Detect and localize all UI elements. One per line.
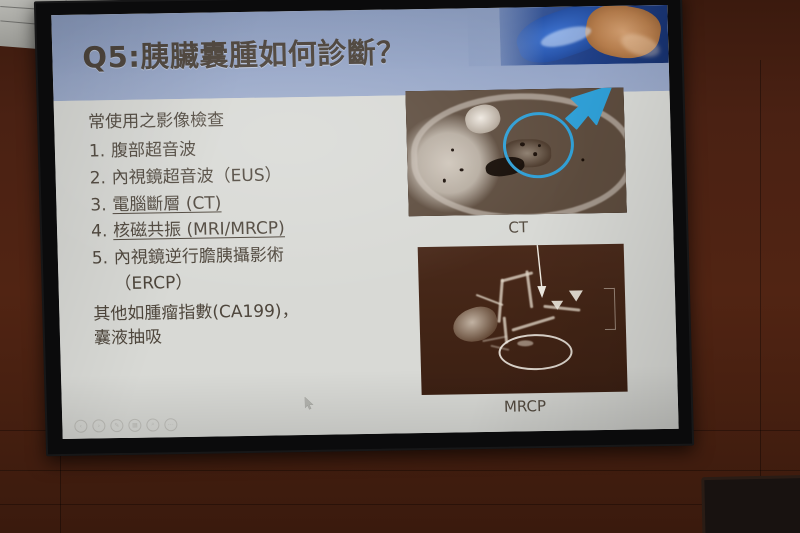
list-item-continuation: （ERCP） bbox=[114, 268, 393, 297]
imaging-modality-list: 1. 腹部超音波 2. 內視鏡超音波（EUS） 3. 電腦斷層 (CT) 4 bbox=[89, 135, 393, 271]
list-number: 5. bbox=[92, 246, 115, 271]
zoom-icon[interactable]: ⌕ bbox=[146, 418, 159, 431]
ct-image bbox=[405, 88, 626, 217]
list-item: 5. 內視鏡逆行膽胰攝影術 bbox=[92, 241, 393, 271]
mrcp-arrowhead bbox=[569, 290, 583, 301]
mrcp-arrowhead bbox=[551, 301, 563, 310]
list-item: 2. 內視鏡超音波（EUS） bbox=[89, 161, 390, 191]
presentation-slide: Q5:胰臟囊腫如何診斷？ 常使用之影像檢查 1. 腹部超音波 2. 內視鏡超音波… bbox=[51, 5, 678, 439]
list-number: 4. bbox=[91, 219, 114, 244]
mrcp-white-arrow-annotation bbox=[532, 244, 550, 307]
list-text: 核磁共振 (MRI/MRCP) bbox=[113, 215, 392, 244]
ct-blue-arrow-annotation bbox=[549, 88, 617, 145]
list-text: 電腦斷層 (CT) bbox=[112, 188, 391, 217]
tail-text-line-2: 囊液抽吸 bbox=[94, 322, 395, 351]
wall-seam bbox=[0, 470, 800, 471]
wall-seam bbox=[0, 504, 800, 505]
figure-mrcp: MRCP bbox=[418, 244, 628, 395]
list-number: 2. bbox=[89, 166, 112, 191]
list-item: 1. 腹部超音波 bbox=[89, 135, 390, 165]
slide-body: 常使用之影像檢查 1. 腹部超音波 2. 內視鏡超音波（EUS） 3. 電腦斷 bbox=[54, 91, 679, 439]
bullet-block: 常使用之影像檢查 1. 腹部超音波 2. 內視鏡超音波（EUS） 3. 電腦斷 bbox=[88, 108, 394, 352]
list-text: 內視鏡逆行膽胰攝影術 bbox=[114, 241, 393, 270]
mrcp-gallbladder bbox=[449, 302, 503, 347]
projection-screen: Q5:胰臟囊腫如何診斷？ 常使用之影像檢查 1. 腹部超音波 2. 內視鏡超音波… bbox=[34, 0, 694, 456]
figure-caption-ct: CT bbox=[409, 217, 627, 239]
slideshow-controls[interactable]: ‹ › ✎ ▦ ⌕ ⋯ bbox=[74, 418, 177, 433]
room-scene: Q5:胰臟囊腫如何診斷？ 常使用之影像檢查 1. 腹部超音波 2. 內視鏡超音波… bbox=[0, 0, 800, 533]
lead-text: 常使用之影像檢查 bbox=[88, 108, 389, 134]
slide-menu-icon[interactable]: ▦ bbox=[128, 419, 141, 432]
mrcp-scale-label bbox=[620, 321, 621, 326]
mrcp-white-ellipse-annotation bbox=[498, 333, 573, 371]
list-number: 3. bbox=[90, 193, 113, 218]
list-item: 4. 核磁共振 (MRI/MRCP) bbox=[91, 215, 392, 245]
figure-ct: CT bbox=[405, 88, 626, 217]
mrcp-scale-bar bbox=[604, 288, 616, 330]
list-text: 內視鏡超音波（EUS） bbox=[111, 161, 390, 190]
next-slide-icon[interactable]: › bbox=[92, 419, 105, 432]
previous-slide-icon[interactable]: ‹ bbox=[74, 420, 87, 433]
list-text: 腹部超音波 bbox=[111, 135, 390, 164]
mouse-cursor bbox=[305, 397, 314, 410]
figure-caption-mrcp: MRCP bbox=[422, 396, 628, 417]
list-item: 3. 電腦斷層 (CT) bbox=[90, 188, 391, 218]
slide-title: Q5:胰臟囊腫如何診斷？ bbox=[82, 26, 603, 77]
more-options-icon[interactable]: ⋯ bbox=[164, 418, 177, 431]
mrcp-image bbox=[418, 244, 628, 395]
pen-icon[interactable]: ✎ bbox=[110, 419, 123, 432]
slide-title-band: Q5:胰臟囊腫如何診斷？ bbox=[51, 5, 669, 101]
list-number: 1. bbox=[89, 139, 112, 164]
wall-seam-vertical bbox=[760, 60, 761, 533]
wall-monitor bbox=[701, 475, 800, 533]
